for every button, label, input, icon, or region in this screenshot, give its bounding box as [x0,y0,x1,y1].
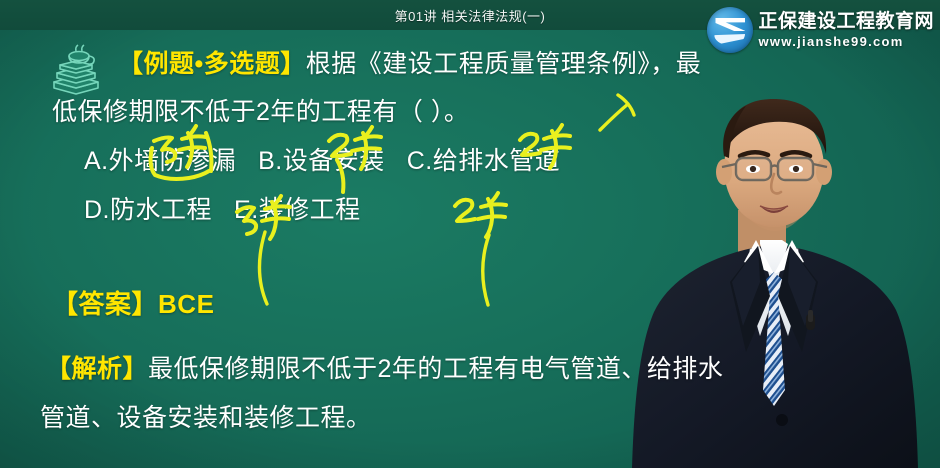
question-line-2: 低保修期限不低于2年的工程有（ ）。 [52,100,469,125]
option-c[interactable]: C.给排水管道 [407,147,561,175]
option-b[interactable]: B.设备安装 [258,147,385,175]
brand-name: 正保建设工程教育网 [758,12,934,31]
option-d[interactable]: D.防水工程 [84,196,212,224]
example-tag: 【例题•多选题】 [118,50,306,78]
analysis-line-2: 管道、设备安装和装修工程。 [40,406,372,431]
slide-content: 【例题•多选题】根据《建设工程质量管理条例》，最 低保修期限不低于2年的工程有（… [0,30,940,468]
option-a[interactable]: A.外墙防渗漏 [84,147,236,175]
jianshe99-logo-icon [707,7,753,53]
option-e[interactable]: E.装修工程 [234,196,361,224]
brand-url: www.jianshe99.com [758,35,934,48]
answer-line: 【答案】BCE [52,291,214,318]
options-row-1: A.外墙防渗漏B.设备安装C.给排水管道 [84,149,560,174]
analysis-line-1: 【解析】最低保修期限不低于2年的工程有电气管道、给排水 [46,357,723,382]
book-stack-icon [48,44,104,96]
question-line-1: 【例题•多选题】根据《建设工程质量管理条例》，最 [118,52,701,77]
options-row-2: D.防水工程E.装修工程 [84,198,361,223]
lecture-video-frame: 【例题•多选题】根据《建设工程质量管理条例》，最 低保修期限不低于2年的工程有（… [0,0,940,468]
analysis-tag: 【解析】 [46,355,148,383]
question-line-1-text: 根据《建设工程质量管理条例》，最 [306,50,702,78]
brand-logo[interactable]: 正保建设工程教育网 www.jianshe99.com [707,2,934,58]
lecture-title: 第01讲 相关法律法规(一) [395,6,546,25]
analysis-line-1-text: 最低保修期限不低于2年的工程有电气管道、给排水 [148,355,723,383]
answer-value: BCE [158,289,214,319]
answer-tag: 【答案】 [52,289,158,319]
